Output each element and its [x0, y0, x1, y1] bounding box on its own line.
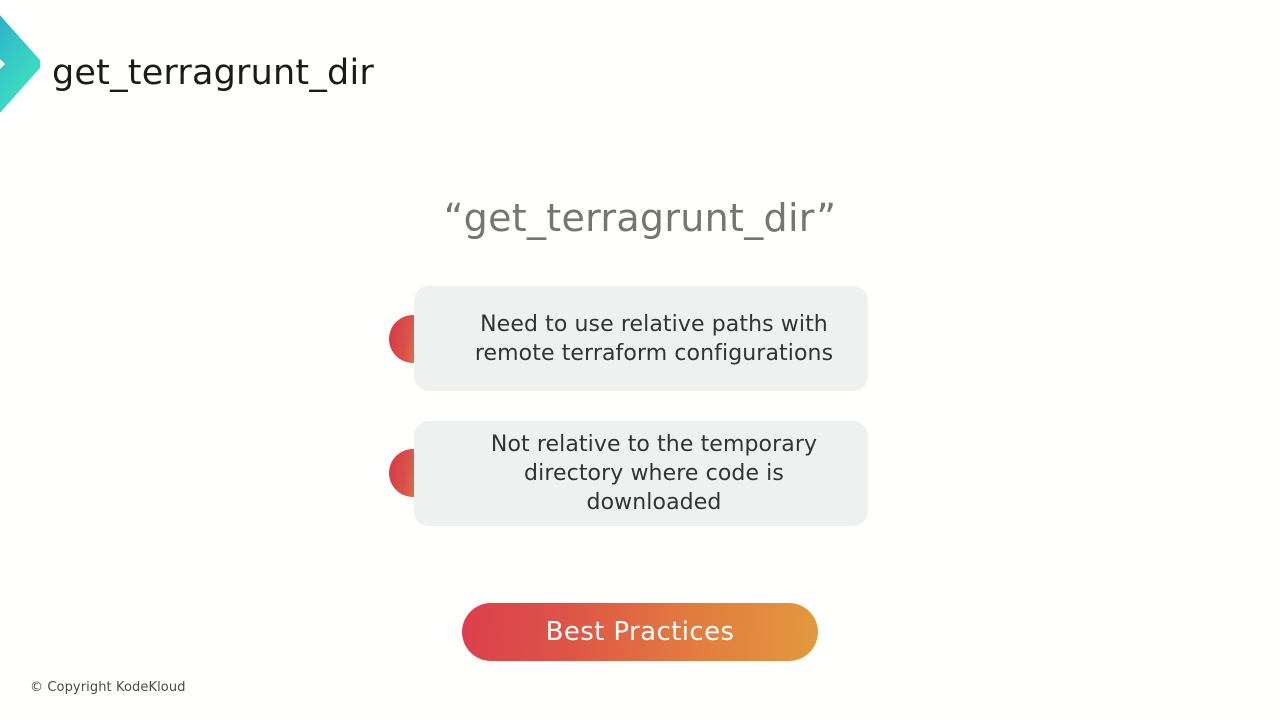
- info-card-text: Not relative to the temporary directory …: [414, 430, 868, 517]
- slide-subtitle: “get_terragrunt_dir”: [0, 196, 1280, 240]
- chevron-right-icon: [0, 13, 40, 115]
- slide-header: get_terragrunt_dir: [0, 0, 1280, 130]
- info-card: Not relative to the temporary directory …: [414, 421, 868, 526]
- best-practices-button[interactable]: Best Practices: [462, 603, 818, 661]
- page-title: get_terragrunt_dir: [52, 53, 374, 93]
- footer-copyright: © Copyright KodeKloud: [30, 680, 186, 695]
- info-card-text: Need to use relative paths with remote t…: [414, 310, 868, 368]
- info-card: Need to use relative paths with remote t…: [414, 286, 868, 391]
